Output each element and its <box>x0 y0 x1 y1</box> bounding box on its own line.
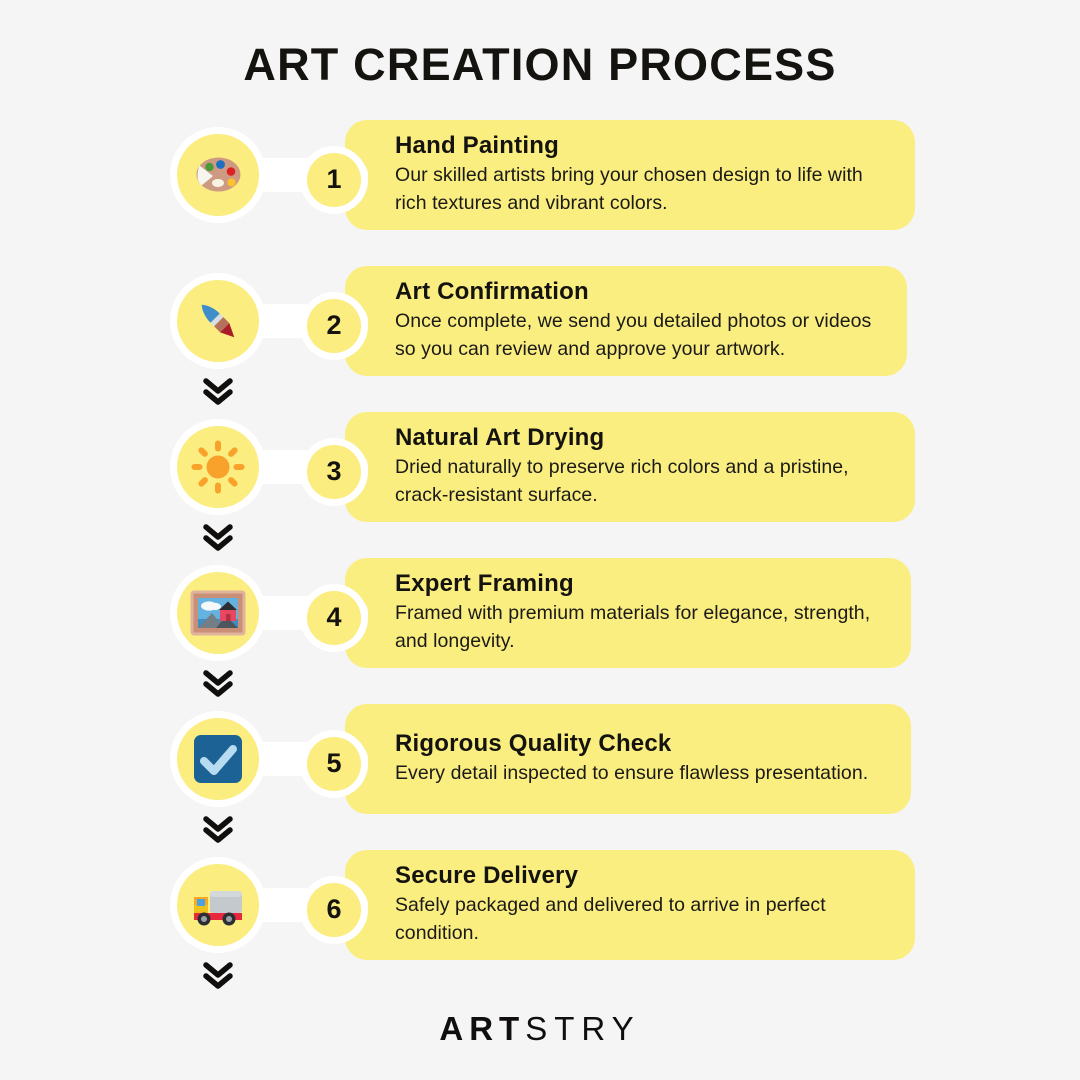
step-number: 4 <box>307 591 361 645</box>
step-description: Once complete, we send you detailed phot… <box>395 308 881 363</box>
step-number: 6 <box>307 883 361 937</box>
step-row: Art Confirmation Once complete, we send … <box>0 266 1080 376</box>
framed-picture-icon <box>177 572 259 654</box>
step-description: Our skilled artists bring your chosen de… <box>395 162 889 217</box>
step-description: Framed with premium materials for elegan… <box>395 600 885 655</box>
step-heading: Hand Painting <box>395 132 889 160</box>
step-icon-holder <box>170 857 266 953</box>
step-description: Every detail inspected to ensure flawles… <box>395 760 885 788</box>
step-panel: Natural Art Drying Dried naturally to pr… <box>345 412 915 522</box>
step-heading: Rigorous Quality Check <box>395 730 885 758</box>
step-number: 1 <box>307 153 361 207</box>
double-chevron-down-icon <box>202 524 234 554</box>
double-chevron-down-icon <box>202 378 234 408</box>
step-description: Dried naturally to preserve rich colors … <box>395 454 889 509</box>
delivery-truck-icon <box>177 864 259 946</box>
step-panel: Art Confirmation Once complete, we send … <box>345 266 907 376</box>
double-chevron-down-icon <box>202 962 234 992</box>
step-panel: Expert Framing Framed with premium mater… <box>345 558 911 668</box>
step-panel: Rigorous Quality Check Every detail insp… <box>345 704 911 814</box>
step-heading: Expert Framing <box>395 570 885 598</box>
brand-logo: ARTSTRY <box>0 1012 1080 1045</box>
step-icon-holder <box>170 127 266 223</box>
step-row: Secure Delivery Safely packaged and deli… <box>0 850 1080 960</box>
step-number-badge: 1 <box>300 146 368 214</box>
step-icon-holder <box>170 565 266 661</box>
step-heading: Natural Art Drying <box>395 424 889 452</box>
page-title: ART CREATION PROCESS <box>0 0 1080 87</box>
step-heading: Secure Delivery <box>395 862 889 890</box>
brand-logo-bold: ART <box>439 1010 525 1047</box>
step-row: Expert Framing Framed with premium mater… <box>0 558 1080 668</box>
step-icon-holder <box>170 711 266 807</box>
step-icon-holder <box>170 273 266 369</box>
double-chevron-down-icon <box>202 670 234 700</box>
step-panel: Secure Delivery Safely packaged and deli… <box>345 850 915 960</box>
step-number-badge: 4 <box>300 584 368 652</box>
step-number-badge: 2 <box>300 292 368 360</box>
step-number: 5 <box>307 737 361 791</box>
step-heading: Art Confirmation <box>395 278 881 306</box>
step-number-badge: 5 <box>300 730 368 798</box>
step-row: Rigorous Quality Check Every detail insp… <box>0 704 1080 814</box>
step-number-badge: 3 <box>300 438 368 506</box>
step-description: Safely packaged and delivered to arrive … <box>395 892 889 947</box>
step-panel: Hand Painting Our skilled artists bring … <box>345 120 915 230</box>
step-number-badge: 6 <box>300 876 368 944</box>
paintbrush-icon <box>177 280 259 362</box>
step-icon-holder <box>170 419 266 515</box>
step-row: Natural Art Drying Dried naturally to pr… <box>0 412 1080 522</box>
double-chevron-down-icon <box>202 816 234 846</box>
brand-logo-light: STRY <box>525 1010 640 1047</box>
sun-icon <box>177 426 259 508</box>
step-number: 2 <box>307 299 361 353</box>
check-mark-box-icon <box>177 718 259 800</box>
process-steps-list: Hand Painting Our skilled artists bring … <box>0 120 1080 960</box>
step-row: Hand Painting Our skilled artists bring … <box>0 120 1080 230</box>
step-number: 3 <box>307 445 361 499</box>
paint-palette-icon <box>177 134 259 216</box>
